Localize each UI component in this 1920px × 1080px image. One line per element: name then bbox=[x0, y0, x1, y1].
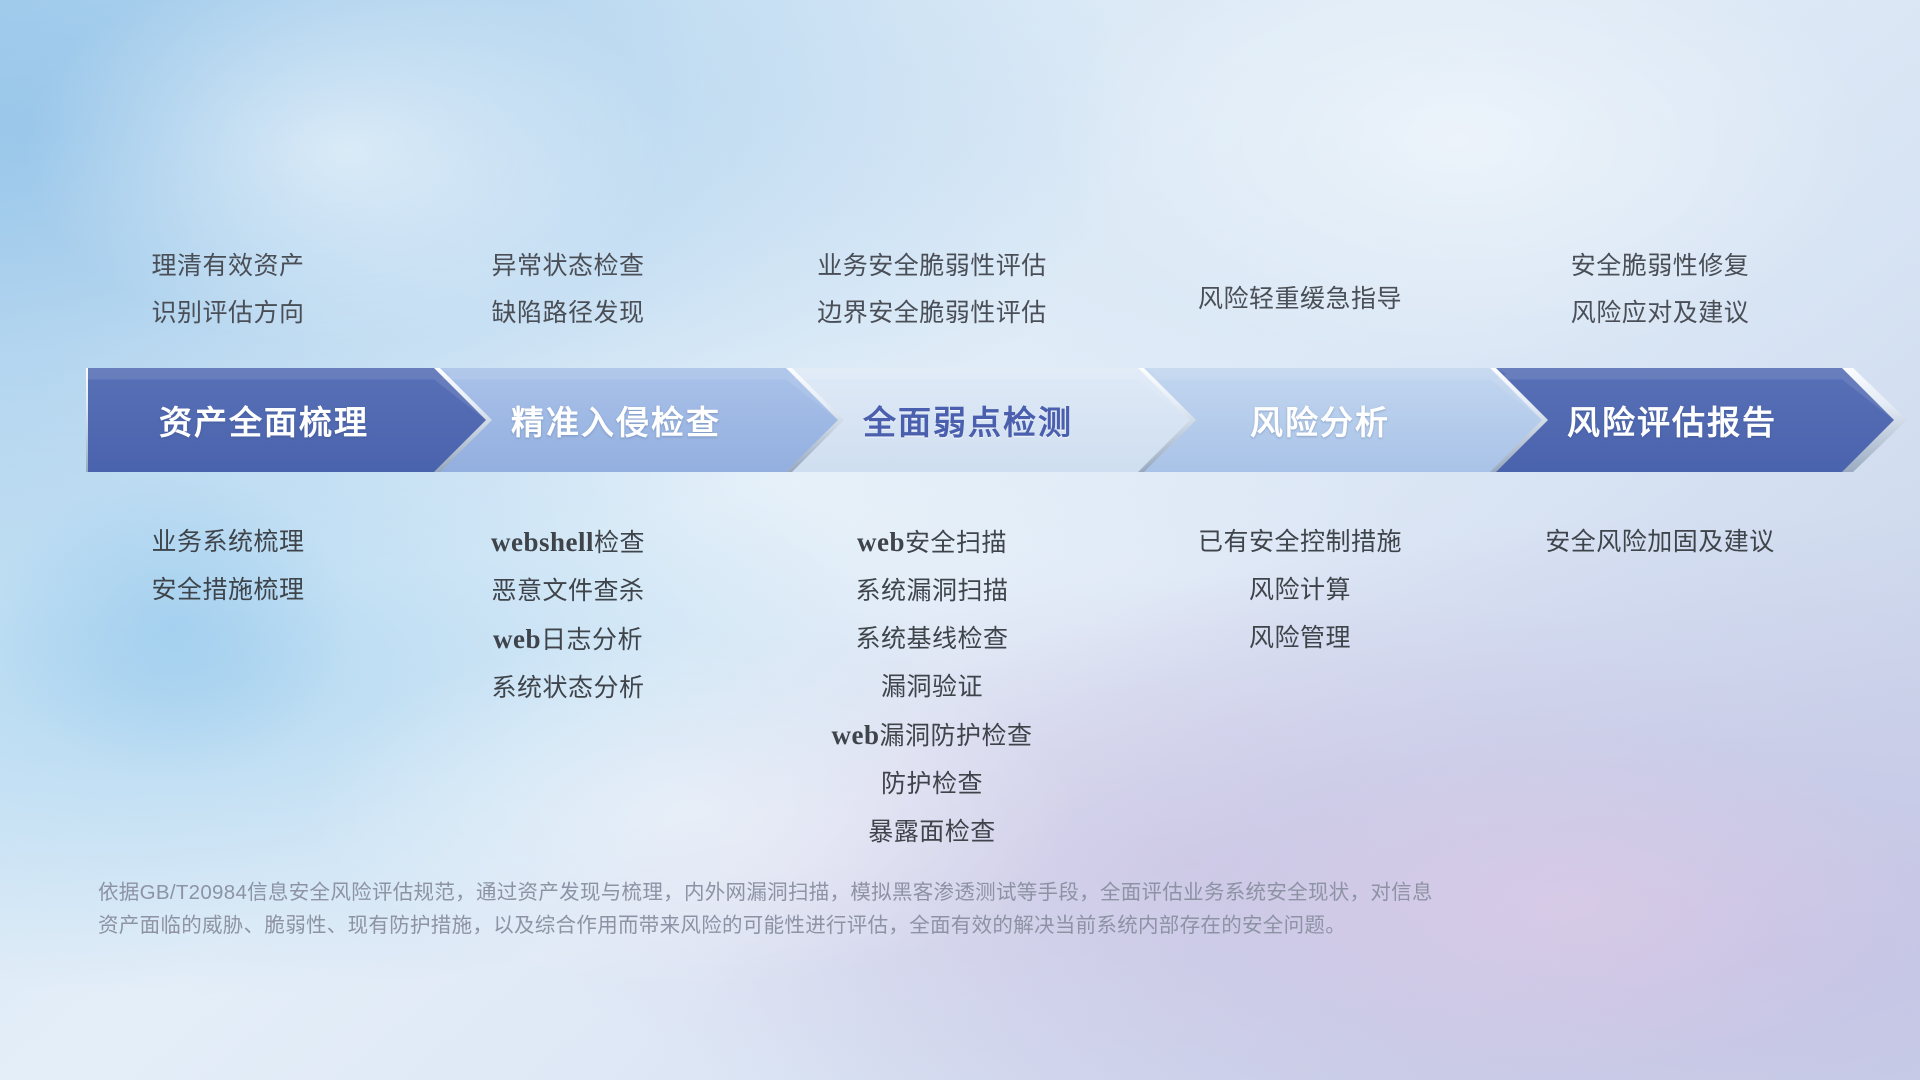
latin-term: webshell bbox=[491, 527, 594, 557]
cjk-term: 已有安全控制措施 bbox=[1198, 528, 1402, 556]
cjk-term: 漏洞验证 bbox=[881, 673, 983, 701]
footer-line-1: 依据GB/T20984信息安全风险评估规范，通过资产发现与梳理，内外网漏洞扫描，… bbox=[98, 876, 1618, 909]
cjk-term: 检查 bbox=[594, 529, 645, 557]
cjk-term: 恶意文件查杀 bbox=[491, 577, 644, 605]
cjk-term: 安全扫描 bbox=[905, 529, 1007, 557]
detail-item: 风险计算 bbox=[1070, 566, 1530, 614]
cjk-term: 系统基线检查 bbox=[855, 625, 1008, 653]
detail-item: 安全风险加固及建议 bbox=[1430, 518, 1890, 566]
cjk-term: 安全风险加固及建议 bbox=[1545, 528, 1775, 556]
cjk-term: 风险计算 bbox=[1249, 576, 1351, 604]
cjk-term: 安全措施梳理 bbox=[151, 576, 304, 604]
detail-item: 风险管理 bbox=[1070, 614, 1530, 662]
cjk-term: 日志分析 bbox=[541, 626, 643, 654]
latin-term: web bbox=[831, 720, 879, 750]
cjk-term: 暴露面检查 bbox=[868, 818, 996, 846]
detail-item: 暴露面检查 bbox=[702, 808, 1162, 856]
footer-line-2: 资产面临的威胁、脆弱性、现有防护措施，以及综合作用而带来风险的可能性进行评估，全… bbox=[98, 909, 1618, 942]
cjk-term: 风险管理 bbox=[1249, 624, 1351, 652]
slide-canvas: 理清有效资产识别评估方向异常状态检查缺陷路径发现业务安全脆弱性评估边界安全脆弱性… bbox=[0, 0, 1920, 1080]
detail-risk-report: 安全风险加固及建议 bbox=[1430, 518, 1890, 566]
cjk-term: 系统状态分析 bbox=[491, 674, 644, 702]
cjk-term: 漏洞防护检查 bbox=[879, 722, 1032, 750]
detail-item: web漏洞防护检查 bbox=[702, 711, 1162, 760]
cjk-term: 业务系统梳理 bbox=[151, 528, 304, 556]
detail-item: 防护检查 bbox=[702, 760, 1162, 808]
footer-description: 依据GB/T20984信息安全风险评估规范，通过资产发现与梳理，内外网漏洞扫描，… bbox=[98, 876, 1618, 942]
cjk-term: 防护检查 bbox=[881, 770, 983, 798]
latin-term: web bbox=[493, 624, 541, 654]
detail-item: 漏洞验证 bbox=[702, 663, 1162, 711]
cjk-term: 系统漏洞扫描 bbox=[855, 577, 1008, 605]
latin-term: web bbox=[857, 527, 905, 557]
